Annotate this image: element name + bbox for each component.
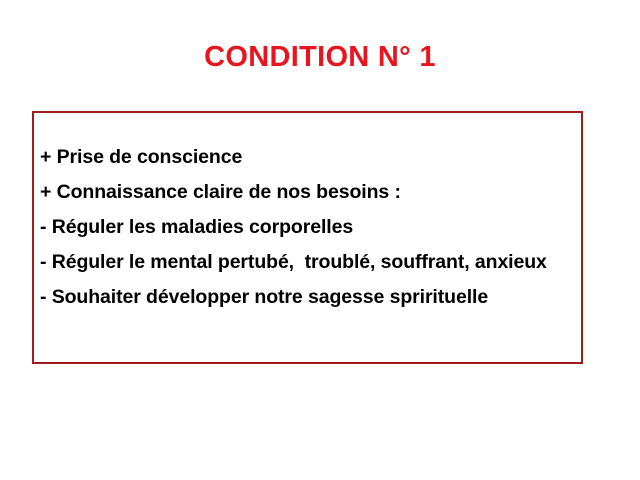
bullet-list: + Prise de conscience + Connaissance cla… (40, 142, 576, 313)
list-item: - Réguler les maladies corporelles (40, 212, 576, 243)
list-item: - Souhaiter développer notre sagesse spr… (40, 282, 576, 313)
list-item: + Prise de conscience (40, 142, 576, 173)
slide-canvas: CONDITION N° 1 + Prise de conscience + C… (0, 0, 640, 480)
content-box: + Prise de conscience + Connaissance cla… (32, 111, 583, 364)
page-title: CONDITION N° 1 (0, 40, 640, 74)
list-item: + Connaissance claire de nos besoins : (40, 177, 576, 208)
list-item: - Réguler le mental pertubé, troublé, so… (40, 247, 576, 278)
